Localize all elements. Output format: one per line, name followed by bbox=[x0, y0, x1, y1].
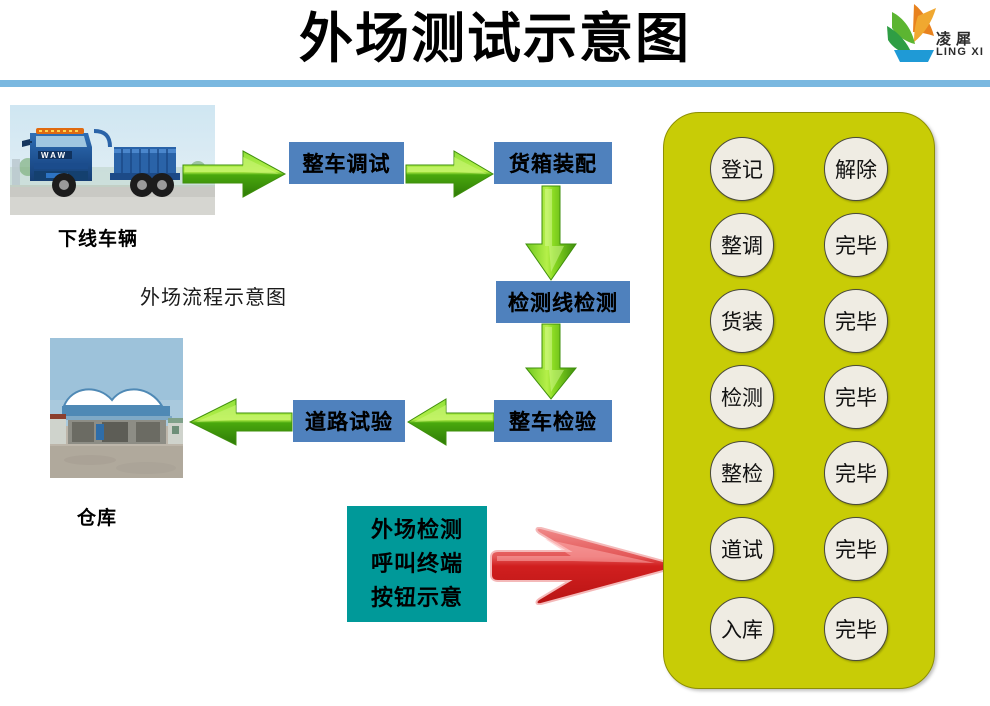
warehouse-photo-caption: 仓库 bbox=[77, 503, 117, 530]
terminal-button-road-test-done[interactable]: 完毕 bbox=[824, 517, 888, 581]
svg-text:WAW: WAW bbox=[41, 151, 67, 160]
company-logo: 凌犀 LING XI bbox=[884, 2, 988, 72]
call-terminal-panel: 登记 解除 整调 完毕 货装 完毕 检测 完毕 整检 完毕 道试 完毕 入库 完… bbox=[663, 112, 935, 689]
terminal-button-inspect[interactable]: 检测 bbox=[710, 365, 774, 429]
process-box-step-5[interactable]: 道路试验 bbox=[293, 400, 405, 442]
terminal-button-warehousing[interactable]: 入库 bbox=[710, 597, 774, 661]
truck-photo-caption: 下线车辆 bbox=[58, 224, 138, 251]
terminal-button-adjust[interactable]: 整调 bbox=[710, 213, 774, 277]
terminal-button-register[interactable]: 登记 bbox=[710, 137, 774, 201]
terminal-button-inspect-done[interactable]: 完毕 bbox=[824, 365, 888, 429]
arrow-left-2-icon bbox=[188, 394, 294, 450]
logo-sail-icon bbox=[884, 2, 944, 68]
arrow-left-1-icon bbox=[406, 394, 496, 450]
warehouse-image bbox=[50, 338, 183, 478]
terminal-note-line-3: 按钮示意 bbox=[371, 581, 463, 615]
terminal-button-release[interactable]: 解除 bbox=[824, 137, 888, 201]
warehouse-photo bbox=[50, 338, 183, 478]
page-title: 外场测试示意图 bbox=[0, 2, 990, 76]
process-box-step-4[interactable]: 整车检验 bbox=[494, 400, 612, 442]
terminal-button-warehousing-done[interactable]: 完毕 bbox=[824, 597, 888, 661]
terminal-button-grid: 登记 解除 整调 完毕 货装 完毕 检测 完毕 整检 完毕 道试 完毕 入库 完… bbox=[664, 113, 934, 688]
logo-name-en: LING XI bbox=[936, 46, 984, 58]
arrow-right-red-icon bbox=[487, 527, 672, 605]
terminal-button-vehicle-check[interactable]: 整检 bbox=[710, 441, 774, 505]
arrow-right-1-icon bbox=[181, 145, 289, 203]
terminal-button-road-test[interactable]: 道试 bbox=[710, 517, 774, 581]
arrow-down-1-icon bbox=[518, 184, 584, 284]
terminal-note-line-1: 外场检测 bbox=[371, 513, 463, 547]
process-box-step-3[interactable]: 检测线检测 bbox=[496, 281, 630, 323]
terminal-button-adjust-done[interactable]: 完毕 bbox=[824, 213, 888, 277]
terminal-button-loading-done[interactable]: 完毕 bbox=[824, 289, 888, 353]
arrow-down-2-icon bbox=[518, 322, 584, 402]
process-box-step-1[interactable]: 整车调试 bbox=[289, 142, 404, 184]
terminal-note-line-2: 呼叫终端 bbox=[371, 547, 463, 581]
terminal-button-vehicle-check-done[interactable]: 完毕 bbox=[824, 441, 888, 505]
terminal-button-loading[interactable]: 货装 bbox=[710, 289, 774, 353]
flow-diagram-caption: 外场流程示意图 bbox=[140, 281, 287, 310]
slide-canvas: 外场测试示意图 凌犀 LING XI bbox=[0, 0, 990, 706]
header-divider bbox=[0, 80, 990, 87]
process-box-step-2[interactable]: 货箱装配 bbox=[494, 142, 612, 184]
arrow-right-2-icon bbox=[404, 145, 496, 203]
terminal-note-box: 外场检测 呼叫终端 按钮示意 bbox=[347, 506, 487, 622]
